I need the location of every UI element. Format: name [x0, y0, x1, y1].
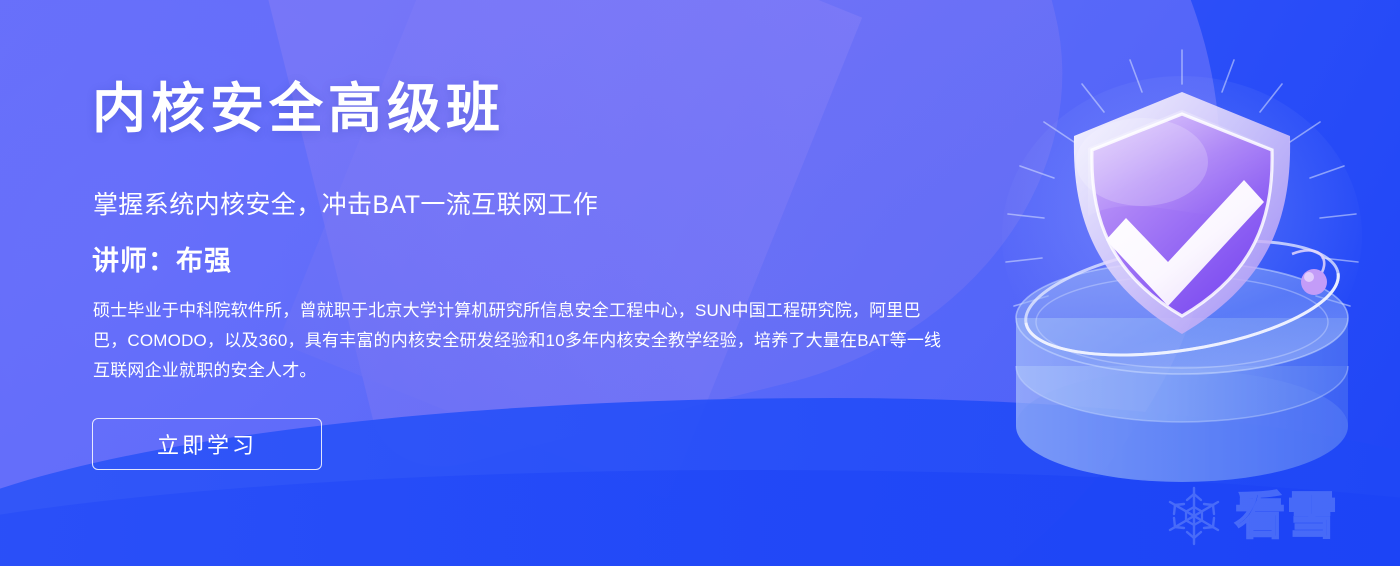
snowflake-icon — [1163, 485, 1225, 547]
watermark-brand-text: 看雪 — [1235, 491, 1339, 541]
kanxue-watermark: 看雪 — [1163, 476, 1378, 556]
instructor-name: 讲师：布强 — [92, 245, 232, 277]
orbit-sphere-highlight — [1304, 272, 1314, 282]
orbit-sphere — [1301, 269, 1327, 295]
course-title: 内核安全高级班 — [92, 82, 505, 136]
course-subtitle: 掌握系统内核安全，冲击BAT一流互联网工作 — [93, 190, 598, 220]
course-promo-banner: 内核安全高级班 掌握系统内核安全，冲击BAT一流互联网工作 讲师：布强 硕士毕业… — [0, 0, 1400, 566]
banner-text-column: 内核安全高级班 掌握系统内核安全，冲击BAT一流互联网工作 讲师：布强 硕士毕业… — [92, 0, 962, 566]
shield-check-illustration — [992, 66, 1372, 466]
start-learning-button[interactable]: 立即学习 — [92, 418, 322, 470]
instructor-bio: 硕士毕业于中科院软件所，曾就职于北京大学计算机研究所信息安全工程中心，SUN中国… — [93, 296, 945, 386]
